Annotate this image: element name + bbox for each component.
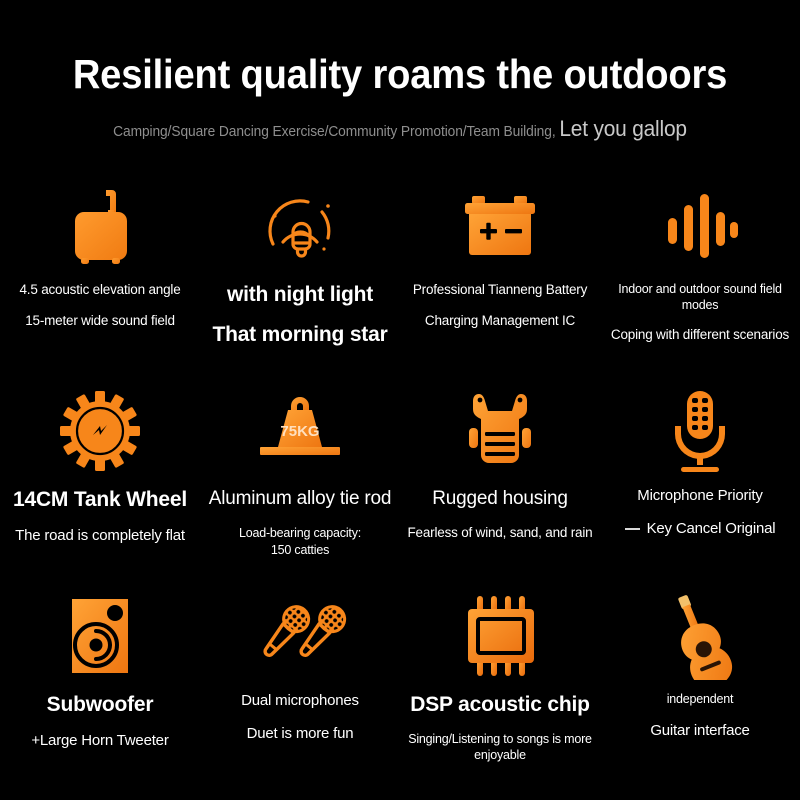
night-light-bulb-icon (259, 178, 341, 274)
feature-line-1: Indoor and outdoor sound field modes (602, 282, 798, 313)
rugged-vest-icon (461, 383, 539, 479)
feature-card-dual-microphones: Dual microphones Duet is more fun (200, 588, 400, 800)
page-title: Resilient quality roams the outdoors (28, 50, 772, 98)
feature-line-2: That morning star (202, 322, 398, 348)
feature-line-1: Professional Tianneng Battery (402, 282, 598, 299)
feature-grid: 4.5 acoustic elevation angle 15-meter wi… (0, 178, 800, 800)
feature-line-2: Guitar interface (602, 722, 798, 741)
feature-card-tie-rod: 75KG Aluminum alloy tie rod Load-bearing… (200, 383, 400, 588)
feature-line-2: Charging Management IC (402, 313, 598, 330)
feature-line-1: Rugged housing (402, 487, 598, 511)
feature-poster: Resilient quality roams the outdoors Cam… (0, 0, 800, 800)
weight-icon-label: 75KG (280, 423, 319, 440)
feature-card-tank-wheel: 14CM Tank Wheel The road is completely f… (0, 383, 200, 588)
feature-line-2: The road is completely flat (2, 527, 198, 546)
feature-line-2: Duet is more fun (202, 725, 398, 744)
feature-line-2: +Large Horn Tweeter (2, 732, 198, 751)
feature-line-2: Key Cancel Original (647, 520, 776, 537)
feature-line-1: Microphone Priority (602, 487, 798, 506)
weight-tie-rod-icon: 75KG (252, 383, 348, 479)
feature-card-sound-field-modes: Indoor and outdoor sound field modes Cop… (600, 178, 800, 383)
feature-card-night-light: with night light That morning star (200, 178, 400, 383)
feature-line-2: Fearless of wind, sand, and rain (402, 525, 598, 542)
acoustic-guitar-icon (662, 588, 738, 684)
feature-line-2: Singing/Listening to songs is more enjoy… (402, 732, 598, 763)
car-battery-icon (460, 178, 540, 274)
feature-card-rugged-housing: Rugged housing Fearless of wind, sand, a… (400, 383, 600, 588)
page-subtitle: Camping/Square Dancing Exercise/Communit… (20, 116, 780, 142)
dsp-chip-icon (458, 588, 542, 684)
feature-card-guitar-interface: independent Guitar interface (600, 588, 800, 800)
feature-line-1: Subwoofer (2, 692, 198, 718)
suitcase-icon (64, 178, 136, 274)
feature-line-1: Aluminum alloy tie rod (202, 487, 398, 511)
feature-line-2: Coping with different scenarios (602, 327, 798, 344)
feature-card-acoustic-elevation: 4.5 acoustic elevation angle 15-meter wi… (0, 178, 200, 383)
feature-line-1: independent (602, 692, 798, 708)
subwoofer-speaker-icon (66, 588, 134, 684)
feature-line-1: with night light (202, 282, 398, 308)
poster-header: Resilient quality roams the outdoors Cam… (0, 0, 800, 142)
feature-line-1: DSP acoustic chip (402, 692, 598, 718)
feature-line-1: 14CM Tank Wheel (2, 487, 198, 513)
feature-card-battery: Professional Tianneng Battery Charging M… (400, 178, 600, 383)
microphone-stand-icon (667, 383, 733, 479)
tank-wheel-gear-icon (58, 383, 142, 479)
dual-microphones-icon (252, 588, 348, 684)
feature-line-2: Load-bearing capacity: 150 catties (202, 525, 398, 559)
feature-card-microphone-priority: Microphone Priority Key Cancel Original (600, 383, 800, 588)
subtitle-scenarios: Camping/Square Dancing Exercise/Communit… (113, 124, 555, 140)
feature-line-1: 4.5 acoustic elevation angle (2, 282, 198, 299)
feature-line-2a: Load-bearing capacity: (202, 525, 398, 542)
dash-marker (625, 528, 640, 530)
subtitle-accent: Let you gallop (559, 116, 686, 141)
feature-card-dsp-chip: DSP acoustic chip Singing/Listening to s… (400, 588, 600, 800)
sound-wave-icon (660, 178, 740, 274)
feature-line-2b: 150 catties (202, 542, 398, 559)
feature-card-subwoofer: Subwoofer +Large Horn Tweeter (0, 588, 200, 800)
feature-line-2: 15-meter wide sound field (2, 313, 198, 330)
feature-line-2-wrap: Key Cancel Original (602, 520, 798, 539)
feature-line-1: Dual microphones (202, 692, 398, 711)
